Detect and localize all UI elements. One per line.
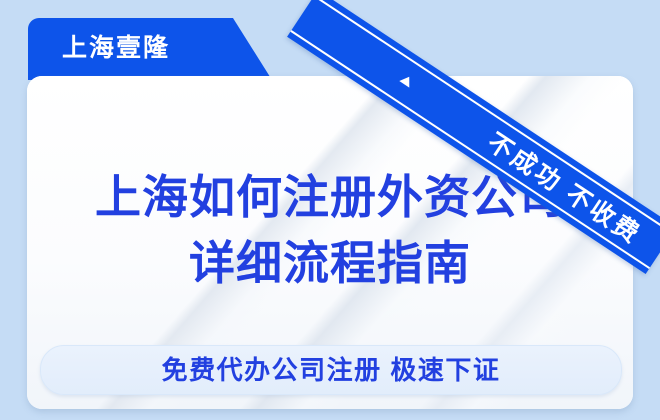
cta-pill-label: 免费代办公司注册 极速下证 <box>162 353 501 387</box>
cta-pill[interactable]: 免费代办公司注册 极速下证 <box>40 345 622 395</box>
content-card: 上海如何注册外资公司 详细流程指南 免费代办公司注册 极速下证 <box>27 76 633 409</box>
brand-tab-label: 上海壹隆 <box>62 31 170 65</box>
promo-poster: 上海壹隆 上海如何注册外资公司 详细流程指南 免费代办公司注册 极速下证 不成功… <box>0 0 660 420</box>
page-title-line-2: 详细流程指南 <box>27 230 633 296</box>
page-title-line-1: 上海如何注册外资公司 <box>95 171 565 223</box>
brand-tab[interactable]: 上海壹隆 <box>28 18 272 80</box>
